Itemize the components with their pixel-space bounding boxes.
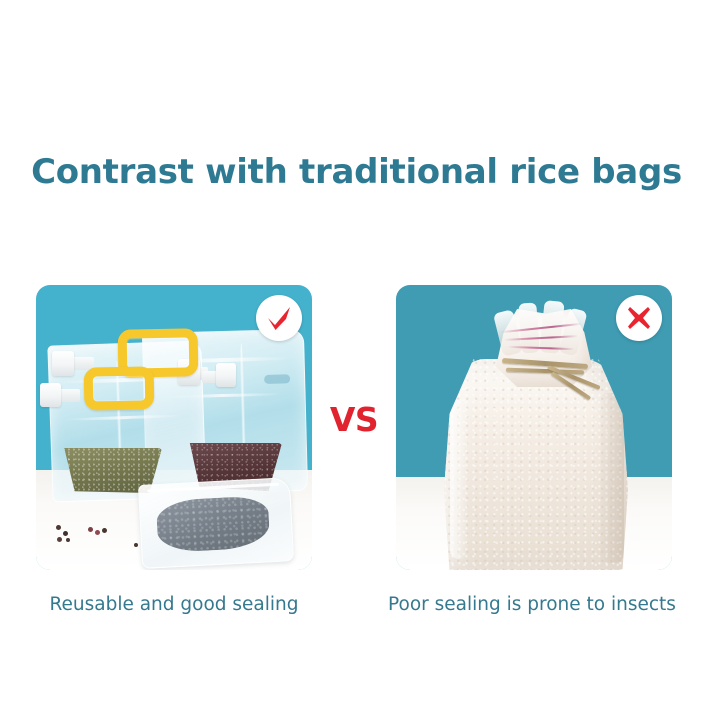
pouch-carry-handle [84,366,155,410]
caption-left: Reusable and good sealing [6,594,342,615]
scattered-bean [63,531,68,536]
sack-shading [598,393,624,563]
caption-right: Poor sealing is prone to insects [356,594,708,615]
pouch-spout-cap [216,363,236,387]
check-badge [256,295,302,341]
scattered-bean [56,525,61,530]
scattered-bean [88,527,93,532]
scattered-bean [57,537,62,542]
pouch-crease [65,414,183,421]
zip-seal-strip [147,483,279,493]
versus-label: VS [312,400,396,439]
traditional-rice-sack [444,359,628,570]
scattered-bean [95,530,100,535]
sack-highlight [450,399,468,559]
scattered-bean [134,543,138,547]
pouch-spout-cap [52,351,74,376]
cross-icon [625,304,653,332]
pouch-spout-cap [40,383,61,407]
comparison-panel-right [396,285,672,570]
pouch-hang-hole [264,374,290,384]
flat-zip-bag [138,477,294,569]
scattered-bean [102,528,107,533]
check-icon [264,303,294,333]
scattered-bean [66,538,70,542]
comparison-panel-left [36,285,312,570]
dark-bean-fill [156,495,271,553]
cross-badge [616,295,662,341]
infographic-page: Contrast with traditional rice bags [0,0,713,713]
page-title: Contrast with traditional rice bags [0,152,713,192]
